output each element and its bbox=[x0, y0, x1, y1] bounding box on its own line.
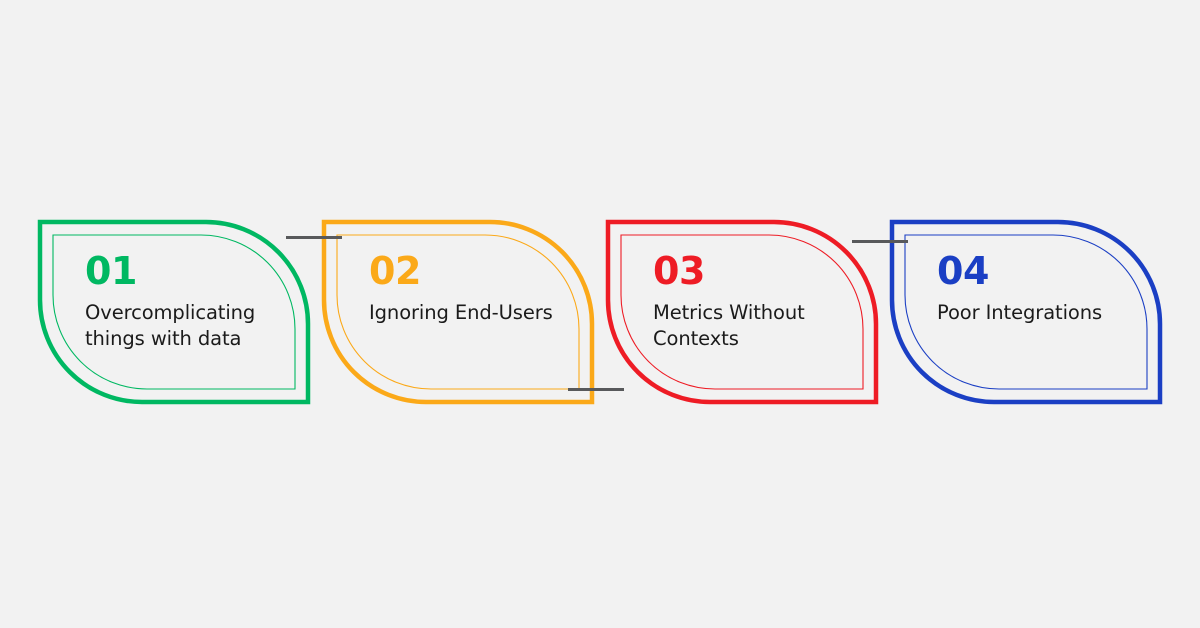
card-inner-border-02 bbox=[337, 235, 579, 389]
card-outline-03 bbox=[606, 220, 878, 404]
card-inner-border-04 bbox=[905, 235, 1147, 389]
infographic-canvas: 01 Overcomplicating things with data 02 … bbox=[0, 0, 1200, 628]
card-outline-04 bbox=[890, 220, 1162, 404]
card-outer-border-04 bbox=[892, 222, 1160, 402]
connector-3-4 bbox=[852, 240, 908, 243]
step-card-03[interactable]: 03 Metrics Without Contexts bbox=[606, 220, 878, 404]
card-outline-01 bbox=[38, 220, 310, 404]
card-outer-border-01 bbox=[40, 222, 308, 402]
connector-1-2 bbox=[286, 236, 342, 239]
card-inner-border-01 bbox=[53, 235, 295, 389]
card-outline-02 bbox=[322, 220, 594, 404]
step-card-01[interactable]: 01 Overcomplicating things with data bbox=[38, 220, 310, 404]
step-card-04[interactable]: 04 Poor Integrations bbox=[890, 220, 1162, 404]
step-card-02[interactable]: 02 Ignoring End-Users bbox=[322, 220, 594, 404]
card-outer-border-02 bbox=[324, 222, 592, 402]
card-inner-border-03 bbox=[621, 235, 863, 389]
card-outer-border-03 bbox=[608, 222, 876, 402]
connector-2-3 bbox=[568, 388, 624, 391]
